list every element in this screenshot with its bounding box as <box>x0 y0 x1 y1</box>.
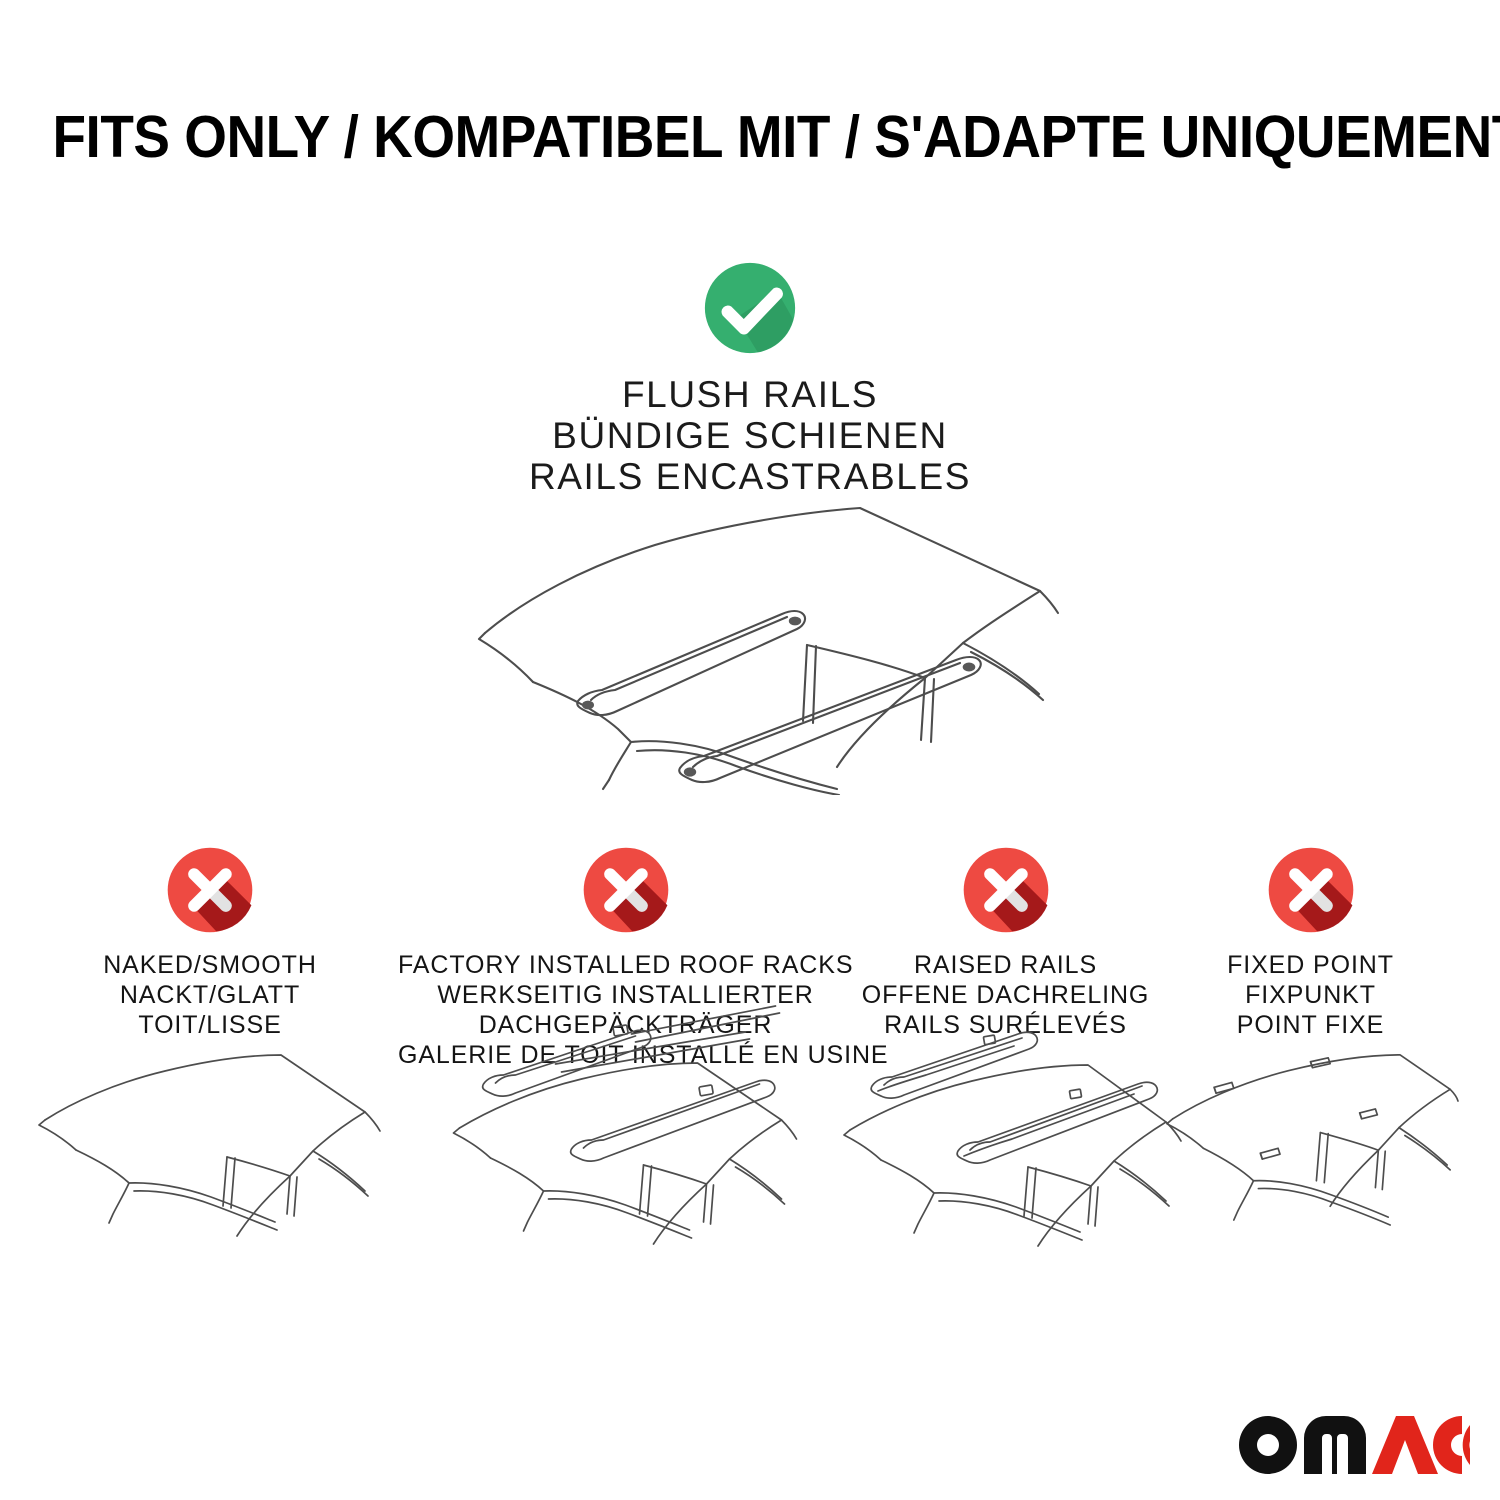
label-line-3: TOIT/LISSE <box>35 1010 385 1040</box>
label-line-1: FIXED POINT <box>1163 950 1458 980</box>
car-roof-fixed-point-illustration <box>1163 1050 1458 1280</box>
logo-letter-o <box>1239 1416 1297 1474</box>
incompatible-labels: NAKED/SMOOTH NACKT/GLATT TOIT/LISSE <box>35 950 385 1040</box>
incompatible-labels: FIXED POINT FIXPUNKT POINT FIXE <box>1163 950 1458 1040</box>
logo-letter-c <box>1433 1416 1462 1474</box>
car-roof-naked-illustration <box>35 1050 385 1280</box>
label-line-2: FIXPUNKT <box>1163 980 1458 1010</box>
compatible-label-en: FLUSH RAILS <box>0 374 1500 415</box>
label-line-2: OFFENE DACHRELING <box>838 980 1173 1010</box>
compatible-section: FLUSH RAILS BÜNDIGE SCHIENEN RAILS ENCAS… <box>0 260 1500 497</box>
car-roof-flush-rails-illustration <box>455 495 1065 795</box>
incompatible-section: NAKED/SMOOTH NACKT/GLATT TOIT/LISSE <box>0 845 1500 1315</box>
check-circle-icon <box>702 260 798 356</box>
label-line-1: FACTORY INSTALLED ROOF RACKS <box>398 950 853 980</box>
incompatible-item-naked-smooth: NAKED/SMOOTH NACKT/GLATT TOIT/LISSE <box>35 845 385 1040</box>
logo-letter-a <box>1372 1416 1438 1474</box>
label-line-2: WERKSEITIG INSTALLIERTER <box>398 980 853 1010</box>
compatible-label-fr: RAILS ENCASTRABLES <box>0 456 1500 497</box>
cross-circle-icon <box>1266 845 1356 935</box>
cross-circle-icon <box>961 845 1051 935</box>
cross-circle-icon <box>581 845 671 935</box>
car-roof-raised-rails-illustration <box>838 1050 1173 1280</box>
logo-letter-m <box>1304 1416 1366 1474</box>
incompatible-item-fixed-point: FIXED POINT FIXPUNKT POINT FIXE <box>1163 845 1458 1040</box>
omac-logo <box>1238 1412 1470 1478</box>
compatible-label-de: BÜNDIGE SCHIENEN <box>0 415 1500 456</box>
label-line-2: NACKT/GLATT <box>35 980 385 1010</box>
cross-circle-icon <box>165 845 255 935</box>
page-title: FITS ONLY / KOMPATIBEL MIT / S'ADAPTE UN… <box>53 108 1448 167</box>
label-line-1: NAKED/SMOOTH <box>35 950 385 980</box>
label-line-3: POINT FIXE <box>1163 1010 1458 1040</box>
compatible-labels: FLUSH RAILS BÜNDIGE SCHIENEN RAILS ENCAS… <box>0 374 1500 497</box>
car-roof-factory-racks-illustration <box>398 1050 853 1280</box>
label-line-1: RAISED RAILS <box>838 950 1173 980</box>
incompatible-item-raised-rails: RAISED RAILS OFFENE DACHRELING RAILS SUR… <box>838 845 1173 1040</box>
incompatible-item-factory-racks: FACTORY INSTALLED ROOF RACKS WERKSEITIG … <box>398 845 853 1070</box>
incompatible-labels: RAISED RAILS OFFENE DACHRELING RAILS SUR… <box>838 950 1173 1040</box>
label-line-3: RAILS SURÉLEVÉS <box>838 1010 1173 1040</box>
